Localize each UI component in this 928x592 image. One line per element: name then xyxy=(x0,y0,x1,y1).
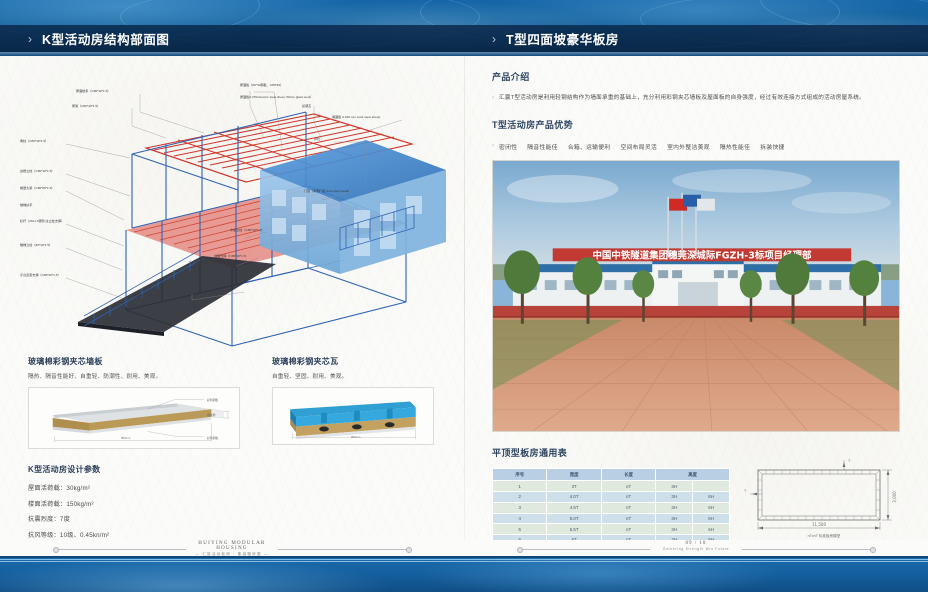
th-length: 长度 xyxy=(601,469,655,481)
cell-length: nT xyxy=(601,524,655,535)
cell-height-a: 3H xyxy=(656,513,693,524)
blueprint-svg xyxy=(14,78,454,353)
footer-rule xyxy=(278,549,408,550)
cell-length: nT xyxy=(601,491,655,502)
cell-width: 5.5T xyxy=(547,524,601,535)
footer-blue-band xyxy=(0,556,928,592)
advantage-item: 合箱、运输便利 xyxy=(568,142,611,151)
cell-length: nT xyxy=(601,513,655,524)
page-tagline: Gathering Strength Win Future xyxy=(650,547,742,551)
blueprint-label: 屋面板0.376mincolor steel sheet, 50mm glass… xyxy=(240,96,313,99)
cell-width: 5.0T xyxy=(547,513,601,524)
plan-width-dim: 11,500 xyxy=(812,522,826,527)
wall-callout-core: 玻璃棉 xyxy=(207,413,215,417)
cell-length: nT xyxy=(601,481,655,492)
product-intro-text: 汇赢T型活动房是利用轻钢结构作为墙面承重的基础上，充分利用彩钢夹芯墙板及屋面板的… xyxy=(499,94,865,103)
section-header-right: › T型四面坡豪华板房 xyxy=(464,25,928,52)
material-title: 玻璃棉彩钢夹芯瓦 xyxy=(272,356,434,367)
wall-panel-figure: 彩色钢板 玻璃棉 彩色钢板 950mm xyxy=(28,387,240,449)
blueprint-label: 栏杆（26x1.5钢管/主立柱支撑） xyxy=(20,220,64,223)
advantages-list: 密闭性 隔音性能佳 合箱、运输便利 空间布局灵活 室内外整洁美观 隔热性能佳 拆… xyxy=(499,142,785,151)
page-number: 09 / 10 xyxy=(650,541,742,546)
footer-stripe xyxy=(0,559,928,560)
footer-dot-icon xyxy=(870,547,876,553)
cell-index: 1 xyxy=(493,481,547,492)
blueprint-label: 楼层大梁（C80*80*1.5） xyxy=(20,187,54,190)
wall-callout-top: 彩色钢板 xyxy=(207,398,218,402)
footer-rule xyxy=(58,549,186,550)
chevron-right-icon: › xyxy=(28,33,32,45)
wall-callout-bottom: 彩色钢板 xyxy=(207,436,218,440)
blueprint-label: 彩钢瓦 xyxy=(302,105,311,108)
cell-width: 3T xyxy=(547,481,601,492)
section-header-left: › K型活动房结构部面图 xyxy=(0,25,464,52)
cell-index: 2 xyxy=(493,491,547,502)
footer-rule xyxy=(522,549,650,550)
table-row: 4 5.0T nT 3H 6H xyxy=(493,513,730,524)
footer-dot-icon xyxy=(406,547,412,553)
section-title-right: T型四面坡豪华板房 xyxy=(506,29,619,48)
left-panel: 屋面檩条（C80*40*1.5） 屋架（C80*40*1.5） 角柱（C80*4… xyxy=(0,56,464,540)
cell-width: 4.0T xyxy=(547,491,601,502)
parameters-title: K型活动房设计参数 xyxy=(28,464,238,475)
blueprint-label: 屋面板（80*40钢板、C80*40） xyxy=(240,84,283,87)
wall-dimension-label: 950mm xyxy=(121,436,130,440)
spec-table: 序号 宽度 长度 高度 1 3T nT 3H 2 xyxy=(492,468,730,546)
cell-index: 5 xyxy=(493,524,547,535)
advantage-item: 室内外整洁美观 xyxy=(667,142,710,151)
roof-dimension-label: 950mm xyxy=(351,435,360,439)
plan-drawing-caption: nTxnT 标准板房模型 xyxy=(736,534,912,539)
plan-small-dim: T xyxy=(847,459,851,463)
cell-height-a: 3H xyxy=(656,481,693,492)
advantage-item: 拆装快捷 xyxy=(760,142,784,151)
footer-stripe xyxy=(0,561,928,562)
material-description: 自重轻、坚固、耐用、美观。 xyxy=(272,372,434,380)
cell-height-b: 6H xyxy=(693,513,730,524)
material-title: 玻璃棉彩钢夹芯墙板 xyxy=(28,356,240,367)
cell-height-b: 6H xyxy=(693,502,730,513)
product-intro-title: 产品介绍 xyxy=(492,70,530,83)
table-row: 5 5.5T nT 3H 6H xyxy=(493,524,730,535)
advantage-item: 密闭性 xyxy=(499,142,517,151)
table-row: 1 3T nT 3H xyxy=(493,481,730,492)
th-width: 宽度 xyxy=(547,469,601,481)
table-row: 3 4.5T nT 3H 6H xyxy=(493,502,730,513)
blueprint-label: 屋架（C80*40*1.5） xyxy=(72,105,100,108)
footer-brand: HUIYING MODULAR HOUSING — 汇赢活动板房 · 集装箱房屋… xyxy=(186,541,278,557)
parameter-row: 楼面活荷载：150kg/m² xyxy=(28,499,238,508)
advantage-item: 隔音性能佳 xyxy=(527,142,558,151)
parameter-row: 抗风等级：10级、0.45kn/m² xyxy=(28,530,238,539)
roof-panel-figure: 950mm xyxy=(272,387,434,445)
chevron-right-icon: › xyxy=(492,94,494,104)
cell-height-a: 3H xyxy=(656,524,693,535)
blueprint-label: 角柱（C80*40*1.5） xyxy=(20,140,48,143)
material-description: 隔热、隔音性能好、自重轻、防潮性、耐用、美观。 xyxy=(28,372,240,380)
cell-length: nT xyxy=(601,502,655,513)
blueprint-label: 中柱立柱（C80*40*1.5） xyxy=(196,261,230,264)
cell-height-b: 6H xyxy=(693,524,730,535)
th-index: 序号 xyxy=(493,469,547,481)
blueprint-label: 边框立柱（C80*40*1.5） xyxy=(20,170,54,173)
blueprint-label: 中梁立柱（C80*40*1.5） xyxy=(230,229,264,232)
footer-white-strip: HUIYING MODULAR HOUSING — 汇赢活动板房 · 集装箱房屋… xyxy=(0,540,928,556)
page-footer: HUIYING MODULAR HOUSING — 汇赢活动板房 · 集装箱房屋… xyxy=(0,540,928,592)
project-site-photo: 中国中铁隧道集团穗莞深城际FGZH-3标项目经理部 xyxy=(492,160,900,432)
product-intro-row: › 汇赢T型活动房是利用轻钢结构作为墙面承重的基础上，充分利用彩钢夹芯墙板及屋面… xyxy=(492,94,912,104)
material-card-wall-panel: 玻璃棉彩钢夹芯墙板 隔热、隔音性能好、自重轻、防潮性、耐用、美观。 xyxy=(28,356,240,449)
cell-width: 4.5T xyxy=(547,502,601,513)
footer-page-info: 09 / 10 Gathering Strength Win Future xyxy=(650,541,742,551)
blueprint-label: 地面支撑（C80*40*1.5） xyxy=(214,255,248,258)
cell-height-a: 3H xyxy=(656,491,693,502)
structure-blueprint: 屋面檩条（C80*40*1.5） 屋架（C80*40*1.5） 角柱（C80*4… xyxy=(14,78,454,353)
advantage-item: 隔热性能佳 xyxy=(720,142,751,151)
site-photo-svg: 中国中铁隧道集团穗莞深城际FGZH-3标项目经理部 xyxy=(493,161,899,431)
cell-index: 3 xyxy=(493,502,547,513)
blueprint-label: 楼梯立柱（80*40*1.5） xyxy=(20,244,52,247)
blueprint-label: 楼梯扶手 xyxy=(20,204,32,207)
th-height: 高度 xyxy=(656,469,730,481)
table-row: 2 4.0T nT 3H 6H xyxy=(493,491,730,502)
cell-height-b xyxy=(693,481,730,492)
chevron-right-icon: › xyxy=(492,142,494,152)
product-advantages-row: › 密闭性 隔音性能佳 合箱、运输便利 空间布局灵活 室内外整洁美观 隔热性能佳… xyxy=(492,142,912,152)
chevron-right-icon: › xyxy=(492,33,496,45)
section-title-left: K型活动房结构部面图 xyxy=(42,29,170,48)
footer-rule xyxy=(742,549,872,550)
photo-banner-text: 中国中铁隧道集团穗莞深城际FGZH-3标项目经理部 xyxy=(592,249,812,261)
blueprint-label: 楼面板（C80*40*1.5） xyxy=(134,294,165,297)
cell-index: 4 xyxy=(493,513,547,524)
brand-name-en: HUIYING MODULAR HOUSING xyxy=(186,541,278,551)
plan-drawing-svg: 11,500 3,000 T T xyxy=(736,456,912,540)
blueprint-label: 墙面板 0.326 mm color steel sheet) xyxy=(332,116,380,119)
spec-table-title: 平顶型板房通用表 xyxy=(492,446,567,459)
parameter-row: 屋面活荷载：30kg/m² xyxy=(28,483,238,492)
cell-height-a: 3H xyxy=(656,502,693,513)
brochure-page: › K型活动房结构部面图 › T型四面坡豪华板房 xyxy=(0,0,928,592)
parameter-row: 抗震烈度：7度 xyxy=(28,514,238,523)
design-parameters: K型活动房设计参数 屋面活荷载：30kg/m² 楼面活荷载：150kg/m² 抗… xyxy=(28,464,238,545)
cell-height-b: 6H xyxy=(693,491,730,502)
blueprint-label: 屋面檩条（C80*40*1.5） xyxy=(76,90,110,93)
plan-drawing: 11,500 3,000 T T xyxy=(736,456,912,540)
blueprint-label: 门窗（彩钢门窗 door,steel wood） xyxy=(304,190,351,193)
plan-small-dim-left: T xyxy=(743,489,747,493)
table-header-row: 序号 宽度 长度 高度 xyxy=(493,469,730,481)
plan-height-dim: 3,000 xyxy=(892,491,897,503)
blueprint-label: 护栏 xyxy=(314,138,320,141)
blueprint-label: 平台走廊支撑（C80*40*1.5） xyxy=(20,274,61,277)
product-advantages-title: T型活动房产品优势 xyxy=(492,118,573,131)
material-card-roof-panel: 玻璃棉彩钢夹芯瓦 自重轻、坚固、耐用、美观。 xyxy=(272,356,434,445)
advantage-item: 空间布局灵活 xyxy=(620,142,657,151)
